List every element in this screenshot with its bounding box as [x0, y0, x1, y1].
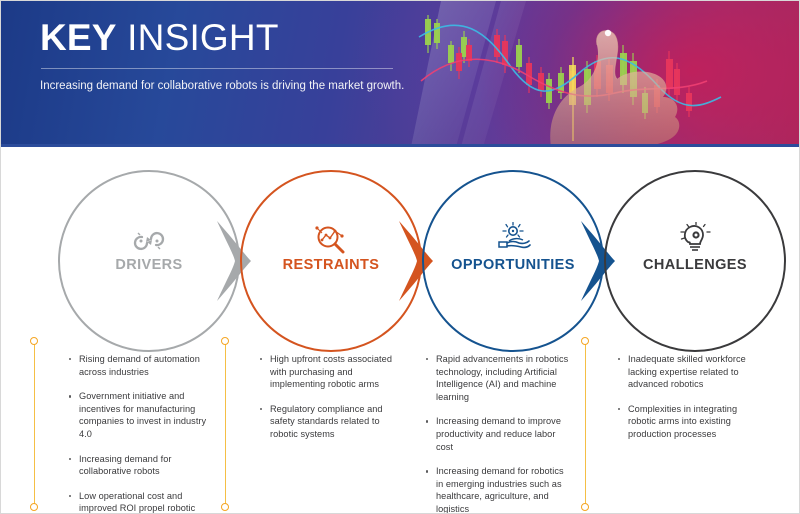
list-item: Inadequate skilled workforce lacking exp…: [615, 353, 763, 391]
magnifier-chart-icon: [242, 224, 420, 259]
page-title: KEY INSIGHT: [40, 17, 420, 59]
content-area: DRIVERS: [1, 147, 800, 513]
stage-label-challenges: CHALLENGES: [606, 257, 784, 273]
list-item: Rapid advancements in robotics technolog…: [423, 353, 571, 403]
list-item: Government initiative and incentives for…: [66, 390, 212, 440]
bullet-column-challenges: Inadequate skilled workforce lacking exp…: [601, 341, 781, 507]
key-insight-infographic: KEY INSIGHT Increasing demand for collab…: [0, 0, 800, 514]
title-divider: [41, 68, 393, 69]
header-subtitle: Increasing demand for collaborative robo…: [40, 78, 408, 94]
bullet-column-drivers: Rising demand of automation across indus…: [34, 341, 220, 507]
header-text-block: KEY INSIGHT Increasing demand for collab…: [40, 17, 420, 94]
candlestick-chart-icon: [401, 1, 800, 147]
divider-dot-top: [221, 337, 229, 345]
divider-dot-bottom: [581, 503, 589, 511]
bullet-list-opportunities: Rapid advancements in robotics technolog…: [423, 341, 571, 514]
list-item: Regulatory compliance and safety standar…: [257, 403, 403, 441]
list-item: High upfront costs associated with purch…: [257, 353, 403, 391]
divider-dot-top: [30, 337, 38, 345]
divider-dot-top: [581, 337, 589, 345]
list-item: Increasing demand for robotics in emergi…: [423, 465, 571, 514]
stage-label-restraints: RESTRAINTS: [242, 257, 420, 273]
bullet-list-drivers: Rising demand of automation across indus…: [66, 341, 212, 514]
stage-circle-challenges[interactable]: CHALLENGES: [604, 170, 786, 352]
header-decorative-artwork: [401, 1, 800, 147]
hand-holding-sun-icon: [424, 222, 602, 259]
bullet-column-opportunities: Rapid advancements in robotics technolog…: [405, 341, 585, 507]
stage-label-drivers: DRIVERS: [60, 257, 238, 273]
list-item: Low operational cost and improved ROI pr…: [66, 490, 212, 514]
list-item: Complexities in integrating robotic arms…: [615, 403, 763, 441]
divider-dot-bottom: [221, 503, 229, 511]
column-divider-line: [585, 341, 586, 507]
list-item: Rising demand of automation across indus…: [66, 353, 212, 378]
stage-label-opportunities: OPPORTUNITIES: [424, 257, 602, 273]
lightbulb-gear-idea-icon: [606, 222, 784, 259]
column-divider-line: [34, 341, 35, 507]
page-title-bold: KEY: [40, 17, 117, 58]
divider-dot-bottom: [30, 503, 38, 511]
header-banner: KEY INSIGHT Increasing demand for collab…: [1, 1, 800, 147]
list-item: Increasing demand for collaborative robo…: [66, 453, 212, 478]
column-divider-line: [225, 341, 226, 507]
list-item: Increasing demand to improve productivit…: [423, 415, 571, 453]
page-title-light: INSIGHT: [117, 17, 279, 58]
bullet-list-challenges: Inadequate skilled workforce lacking exp…: [615, 341, 763, 441]
gears-cycle-icon: [60, 228, 238, 259]
bullet-list-restraints: High upfront costs associated with purch…: [257, 341, 403, 441]
bullet-column-restraints: High upfront costs associated with purch…: [225, 341, 405, 507]
